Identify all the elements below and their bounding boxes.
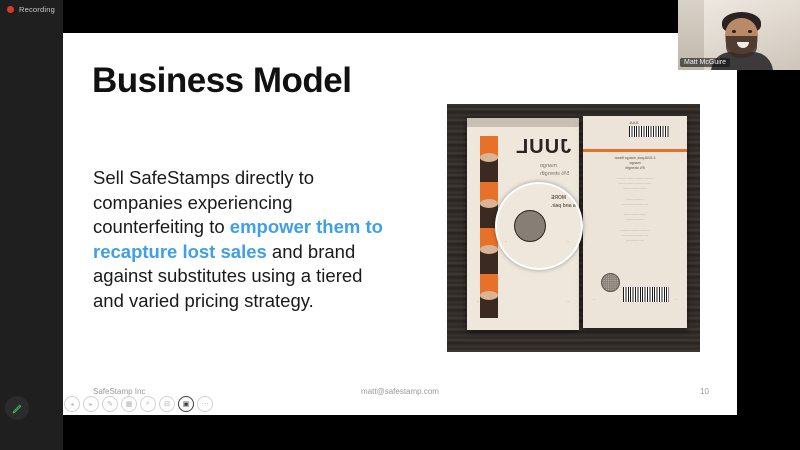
more-options-button[interactable]: ⋯ xyxy=(197,396,213,412)
participant-name-label: Matt McGuire xyxy=(680,58,730,67)
pack-flavor-label: mango 5% strength xyxy=(540,162,569,178)
participant-eye-left xyxy=(732,30,736,33)
meeting-screen: Recording Business Model Sell SafeStamps… xyxy=(0,0,800,450)
slide-body-text: Sell SafeStamps directly to companies ex… xyxy=(93,166,398,313)
footer-page-number: 10 xyxy=(700,387,709,396)
recording-indicator: Recording xyxy=(7,5,55,14)
next-slide-button[interactable]: ▸ xyxy=(83,396,99,412)
juul-pack-back: JUUL 4 JUULpod, mango flavor mango 5% st… xyxy=(583,116,687,328)
recording-label: Recording xyxy=(19,5,55,14)
fit-screen-button[interactable]: ⊟ xyxy=(159,396,175,412)
slide-title: Business Model xyxy=(92,61,351,101)
barcode-caption: JUUL xyxy=(629,120,639,125)
slide-grid-button[interactable]: ▦ xyxy=(121,396,137,412)
footer-email: matt@safestamp.com xyxy=(63,387,737,396)
presentation-slide[interactable]: Business Model Sell SafeStamps directly … xyxy=(63,33,737,415)
magnifier-callout: MORE a and pair. xyxy=(495,182,583,270)
magnified-security-stamp xyxy=(514,210,546,242)
juul-logo: JUUL xyxy=(515,136,571,159)
previous-slide-button[interactable]: ◂ xyxy=(64,396,80,412)
security-stamp xyxy=(601,273,620,292)
pack-barcode-top xyxy=(629,126,669,137)
pencil-icon xyxy=(11,402,24,415)
participant-eye-right xyxy=(748,30,752,33)
presentation-toolbar[interactable]: ◂ ▸ ✎ ▦ ⌕ ⊟ ▣ ⋯ xyxy=(64,396,213,412)
annotate-button[interactable] xyxy=(5,396,29,420)
pack-back-flap xyxy=(593,299,677,322)
recording-dot-icon xyxy=(7,6,14,13)
pack-back-text: 4 JUULpod, mango flavor mango 5% strengt… xyxy=(589,156,681,244)
webcam-tile[interactable]: Matt McGuire xyxy=(678,0,800,70)
pack-orange-line xyxy=(583,149,687,152)
pack-barcode-bottom xyxy=(623,287,669,302)
left-rail: Recording xyxy=(0,0,63,450)
product-photo: JUUL mango 5% strength JUUL 4 JUULpod, m… xyxy=(447,104,700,352)
camera-button[interactable]: ▣ xyxy=(178,396,194,412)
zoom-button[interactable]: ⌕ xyxy=(140,396,156,412)
pack-top-band xyxy=(467,118,579,127)
pen-tool-button[interactable]: ✎ xyxy=(102,396,118,412)
magnified-flap xyxy=(505,241,569,258)
magnifier-text: MORE a and pair. xyxy=(551,194,576,210)
